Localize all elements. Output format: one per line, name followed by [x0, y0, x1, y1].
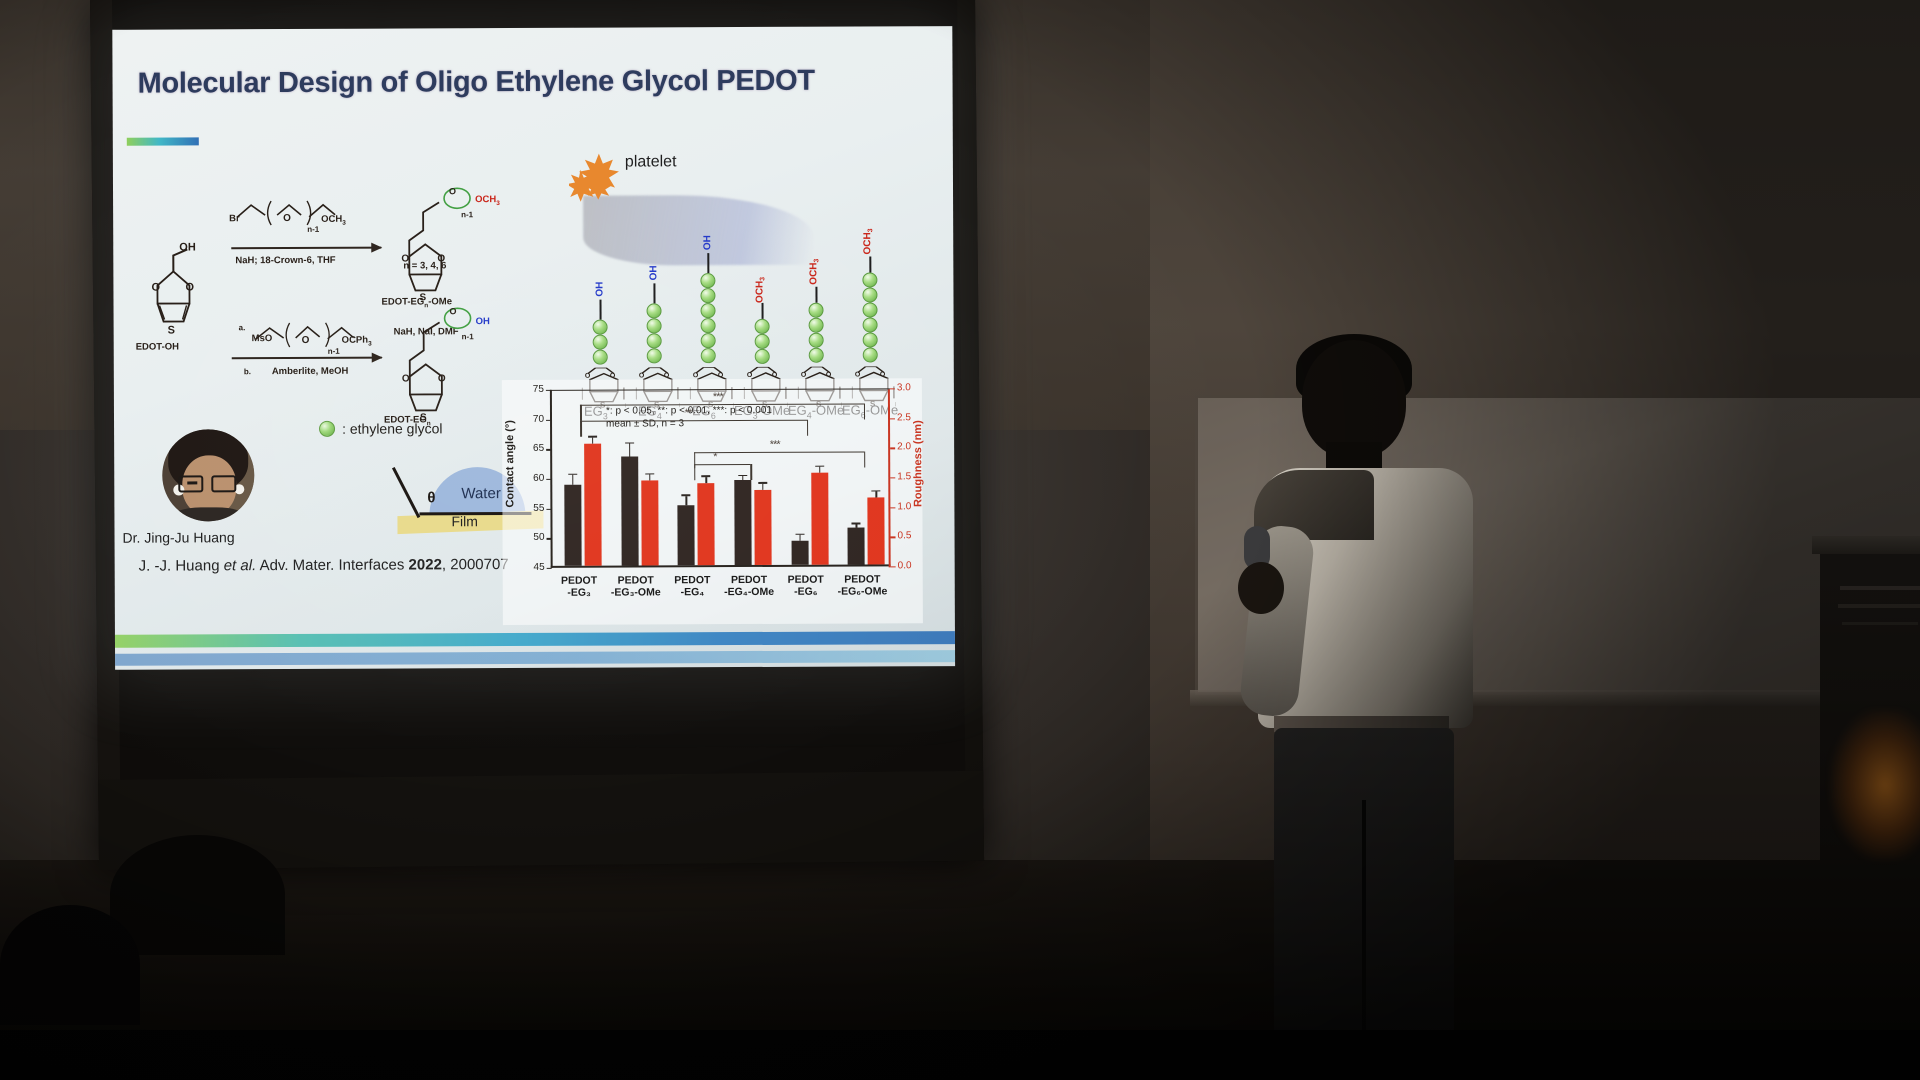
error-bar	[742, 476, 743, 480]
theta-label: θ	[427, 489, 435, 506]
y2-tick-label: 2.0	[897, 442, 921, 453]
svg-text:O: O	[855, 372, 861, 379]
reagent-och3-label: OCH3	[321, 214, 346, 227]
error-bar-cap	[682, 494, 691, 495]
significance-brackets: *********	[552, 389, 890, 390]
y2-tick-mark	[890, 418, 895, 419]
chain-tip-label: OH	[648, 265, 659, 280]
error-bar-cap	[852, 523, 861, 524]
step-b-conditions: Amberlite, MeOH	[272, 366, 349, 377]
y2-tick-mark	[890, 507, 895, 508]
ethylene-glycol-legend-label: : ethylene glycol	[342, 420, 442, 436]
author-avatar	[162, 429, 254, 521]
product-och3-label: OCH3	[475, 194, 500, 207]
plot-area: *: p < 0.05, **: p < 0.01, ***: p < 0.00…	[550, 388, 891, 567]
citation: J. -J. Huang et al. Adv. Mater. Interfac…	[139, 556, 509, 575]
chain-tip-label: OH	[702, 235, 713, 250]
y-tick-mark	[546, 390, 551, 391]
citation-article: , 2000707	[442, 556, 509, 573]
error-bar	[572, 475, 573, 484]
bar-contact-angle	[848, 528, 865, 565]
presentation-slide: Molecular Design of Oligo Ethylene Glyco…	[112, 26, 955, 670]
svg-text:O: O	[693, 372, 699, 379]
x-category-label: PEDOT-EG₆-OMe	[829, 573, 895, 597]
y2-tick-label: 2.5	[897, 412, 921, 423]
lecture-hall-scene: Molecular Design of Oligo Ethylene Glyco…	[0, 0, 1920, 1080]
bar-contact-angle	[791, 541, 808, 565]
n-values-label: n = 3, 4, 6	[403, 260, 446, 271]
edot-oh-label: EDOT-OH	[136, 341, 179, 352]
audience-head-silhouette	[110, 835, 285, 955]
bar-roughness	[584, 443, 602, 565]
y2-tick-label: 1.5	[897, 471, 921, 482]
y-tick-label: 50	[523, 532, 545, 543]
citation-etal: et al.	[224, 557, 257, 574]
citation-year: 2022	[408, 556, 441, 573]
ethylene-glycol-legend: : ethylene glycol	[319, 420, 442, 437]
y-tick-mark	[546, 449, 551, 450]
y-axis-label: Contact angle (°)	[504, 420, 516, 508]
y-tick-mark	[546, 420, 551, 421]
chain-tip-label: OH	[594, 282, 605, 297]
author-name: Dr. Jing-Ju Huang	[122, 529, 234, 545]
bar-roughness	[698, 483, 715, 566]
error-bar-cap	[795, 534, 804, 535]
title-accent-bar	[127, 137, 199, 145]
bar-contact-angle	[734, 480, 751, 566]
svg-text:O: O	[639, 372, 645, 379]
y-tick-label: 60	[522, 473, 544, 484]
podium-detail	[1842, 622, 1918, 625]
bar-group	[785, 387, 830, 565]
error-bar	[629, 444, 630, 456]
product-b-oh-label: OH	[476, 316, 490, 327]
reaction-arrow-a	[231, 247, 381, 250]
bar-roughness	[811, 473, 828, 565]
significance-bracket-tick	[807, 420, 808, 436]
oh-label: OH	[179, 241, 196, 253]
y-tick-mark	[547, 568, 552, 569]
platelet-icon	[569, 149, 639, 219]
bar-roughness	[641, 481, 658, 566]
error-bar-cap	[758, 482, 767, 483]
slide-footer-bar-secondary	[115, 650, 955, 666]
error-bar	[686, 496, 687, 505]
step-a-tag: a.	[239, 323, 246, 332]
reagent-subscript-a: n-1	[307, 225, 319, 234]
error-bar	[856, 524, 857, 528]
significance-bracket-tick	[580, 405, 581, 421]
product-subscript-a: n-1	[461, 210, 473, 219]
error-bar	[876, 491, 877, 497]
y2-tick-mark	[890, 448, 895, 449]
step-a-subscript: n-1	[328, 347, 340, 356]
y-tick-mark	[546, 479, 551, 480]
step-b-tag: b.	[244, 367, 251, 376]
step-a-ocph3-label: OCPh3	[342, 335, 372, 348]
error-bar-cap	[872, 490, 881, 491]
presenter-leg-gap	[1362, 800, 1366, 1060]
svg-text:O: O	[450, 306, 457, 316]
y2-axis-label: Roughness (nm)	[912, 420, 924, 507]
error-bar	[762, 484, 763, 490]
product-b-subscript: n-1	[462, 332, 474, 341]
floor-lamp-glow	[1830, 710, 1920, 860]
error-bar-cap	[738, 475, 747, 476]
y-tick-label: 65	[522, 443, 544, 454]
y2-tick-label: 0.5	[898, 531, 922, 542]
significance-bracket-tick	[580, 421, 581, 437]
bar-contact-angle	[678, 505, 695, 565]
significance-stars: ***	[770, 439, 780, 451]
presenter-silhouette	[1230, 330, 1560, 1080]
podium-surface	[1812, 536, 1920, 554]
error-bar	[706, 477, 707, 483]
significance-bracket-tick	[751, 464, 752, 480]
bar-contact-angle	[621, 456, 638, 565]
podium-detail	[1840, 586, 1920, 590]
y2-tick-mark	[890, 477, 895, 478]
error-bar	[649, 475, 650, 481]
svg-text:O: O	[151, 282, 160, 294]
bar-contact-angle	[564, 484, 581, 565]
y-tick-label: 45	[523, 562, 545, 573]
significance-bracket-tick	[864, 451, 865, 467]
y2-tick-mark	[891, 537, 896, 538]
y-tick-mark	[547, 538, 552, 539]
error-bar-cap	[588, 436, 597, 437]
projection-screen: Molecular Design of Oligo Ethylene Glyco…	[90, 0, 984, 870]
significance-stars: ***	[713, 391, 723, 403]
reagent-chain-a: O	[231, 195, 381, 230]
reaction-scheme: O O S OH EDOT-OH O Br	[131, 156, 522, 458]
svg-text:O: O	[801, 372, 807, 379]
significance-stars: *	[713, 451, 716, 463]
significance-stars: **	[685, 407, 692, 419]
y-tick-label: 70	[522, 414, 544, 425]
tangent-line	[392, 467, 420, 518]
significance-bracket-tick	[864, 403, 865, 419]
y2-tick-mark	[890, 388, 895, 389]
film-label: Film	[451, 513, 478, 529]
y2-tick-label: 3.0	[897, 382, 921, 393]
y2-tick-mark	[891, 566, 896, 567]
conditions-a: NaH; 18-Crown-6, THF	[235, 255, 335, 266]
error-bar-cap	[625, 442, 634, 443]
significance-bracket-tick	[694, 464, 695, 480]
error-bar	[592, 437, 593, 443]
svg-text:O: O	[449, 186, 456, 196]
svg-text:O: O	[438, 373, 446, 384]
citation-journal: Adv. Mater. Interfaces	[256, 556, 408, 574]
reaction-arrow-b	[232, 357, 382, 360]
svg-text:O: O	[185, 281, 194, 293]
audience-head-silhouette	[0, 905, 140, 1025]
presenter-head	[1302, 340, 1406, 458]
error-bar-cap	[568, 474, 577, 475]
slide-footer-bar	[115, 631, 955, 648]
ethylene-glycol-bead-icon	[319, 421, 335, 437]
svg-text:S: S	[168, 324, 175, 336]
error-bar-cap	[815, 465, 824, 466]
chain-tip-label: OCH3	[754, 277, 766, 303]
svg-text:O: O	[585, 373, 591, 380]
presenter-hand	[1238, 562, 1284, 614]
significance-bracket	[694, 451, 864, 453]
step-a-mso-label: MsO	[252, 333, 273, 344]
chain-tip-label: OCH3	[808, 259, 820, 285]
bar-chart: Contact angle (°) Roughness (nm) *: p < …	[502, 378, 923, 625]
bar-roughness	[754, 490, 771, 565]
error-bar-cap	[702, 475, 711, 476]
reagent-chain-b: O	[252, 318, 412, 349]
water-label: Water	[461, 485, 501, 502]
svg-text:O: O	[402, 373, 410, 384]
citation-authors: J. -J. Huang	[139, 557, 224, 574]
y-tick-mark	[546, 509, 551, 510]
y-tick-label: 75	[522, 384, 544, 395]
svg-text:O: O	[302, 335, 310, 346]
comb-polymer-diagram: platelet OH	[563, 146, 949, 418]
edot-oh-structure: O O S	[141, 245, 221, 337]
chain-tip-label: OCH3	[862, 228, 874, 254]
error-bar-cap	[645, 473, 654, 474]
error-bar	[819, 467, 820, 473]
slide-title: Molecular Design of Oligo Ethylene Glyco…	[137, 65, 814, 101]
podium-detail	[1838, 604, 1920, 608]
svg-text:O: O	[283, 213, 291, 224]
y-tick-label: 55	[522, 503, 544, 514]
y2-tick-label: 0.0	[898, 560, 922, 571]
error-bar	[799, 535, 800, 541]
reagent-br-label: Br	[229, 213, 240, 224]
svg-text:O: O	[747, 372, 753, 379]
y2-tick-label: 1.0	[897, 501, 921, 512]
bar-roughness	[868, 497, 885, 564]
bar-group	[615, 387, 660, 565]
foreground-shadow	[0, 1030, 1920, 1080]
